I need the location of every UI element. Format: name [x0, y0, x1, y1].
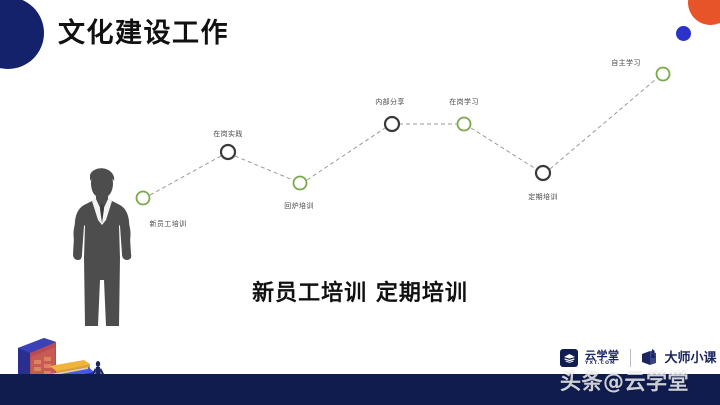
- partner-logo-label: 大师小课: [665, 352, 717, 365]
- watermark-text: 头条@云学堂: [560, 372, 689, 393]
- logo-divider: [630, 349, 631, 367]
- chart-node-marker: [221, 145, 235, 159]
- chart-node-marker: [385, 117, 399, 131]
- yxt-badge-icon: [560, 349, 578, 367]
- cloud-mark-icon: [563, 353, 576, 364]
- chart-node-label: 新员工培训: [150, 221, 187, 228]
- chart-node-label: 在岗学习: [449, 99, 479, 106]
- presentation-slide: 文化建设工作 新员工培训 在岗实践: [0, 0, 720, 405]
- chart-node-label: 回炉培训: [284, 203, 314, 210]
- orange-circle-decoration: [688, 0, 720, 25]
- chart-node-label: 内部分享: [375, 99, 405, 106]
- brand-logo-strip: 云学堂 YXT.COM 大师小课: [560, 349, 717, 367]
- chart-node-label: 自主学习: [611, 60, 641, 67]
- chart-node-marker: [294, 177, 307, 190]
- chart-node-label: 定期培训: [528, 194, 558, 201]
- yxt-wordmark: 云学堂 YXT.COM: [585, 350, 620, 367]
- chart-node-marker: [657, 68, 670, 81]
- book-person-icon: [641, 349, 658, 367]
- navy-circle-decoration: [0, 0, 44, 69]
- page-title: 文化建设工作: [58, 20, 229, 47]
- blue-dot-decoration: [676, 26, 691, 41]
- chart-node-marker: [458, 118, 471, 131]
- yxt-logo-en: YXT.COM: [585, 362, 620, 367]
- headline-text: 新员工培训 定期培训: [0, 283, 720, 305]
- yxt-logo-cn: 云学堂: [585, 350, 620, 361]
- chart-node-marker: [536, 166, 550, 180]
- chart-node-label: 在岗实践: [213, 131, 243, 138]
